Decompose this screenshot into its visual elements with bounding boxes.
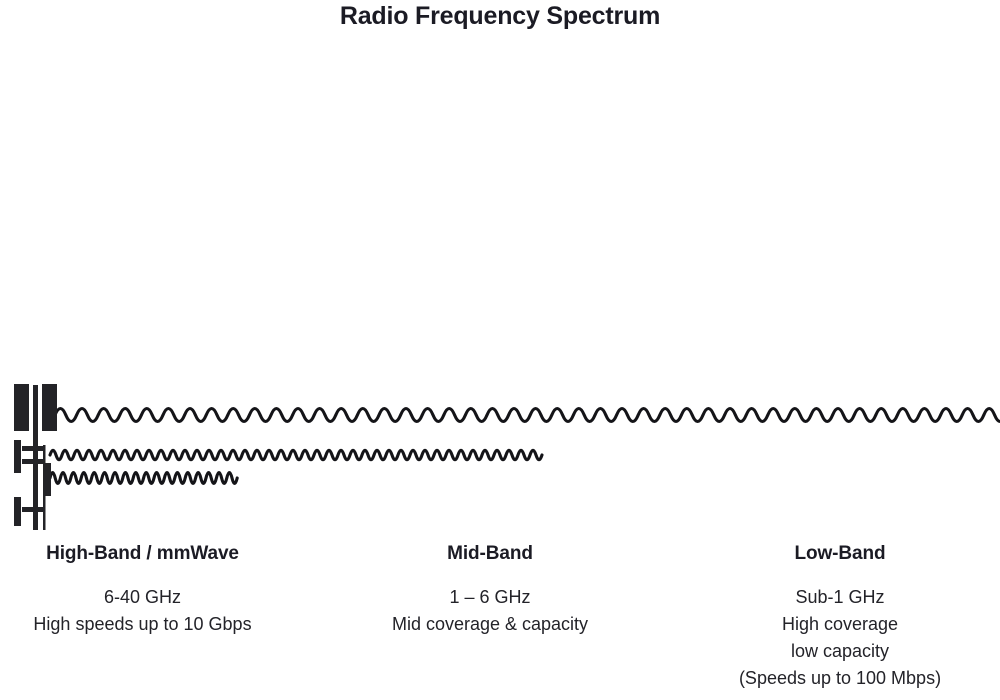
- spectrum-illustration: [0, 120, 1000, 530]
- tower-crossbar-middle: [22, 459, 45, 464]
- band-column-high: High-Band / mmWave 6-40 GHz High speeds …: [0, 543, 285, 638]
- spectrum-svg: [0, 120, 1000, 530]
- band-title-low: Low-Band: [690, 543, 990, 565]
- band-frequency-low: Sub-1 GHz: [690, 584, 990, 611]
- band-column-low: Low-Band Sub-1 GHz High coverage low cap…: [690, 543, 990, 692]
- tower-antenna-panel-right-mid: [44, 463, 51, 496]
- band-title-mid: Mid-Band: [345, 543, 635, 565]
- infographic-root: Radio Frequency Spectrum: [0, 0, 1000, 700]
- band-detail-low-2: (Speeds up to 100 Mbps): [690, 665, 990, 692]
- tower-antenna-panel-right-top: [42, 384, 57, 431]
- radio-waves: [50, 409, 1000, 484]
- band-detail-low-0: High coverage: [690, 611, 990, 638]
- band-frequency-mid: 1 – 6 GHz: [345, 584, 635, 611]
- tower-antenna-panel-lower: [14, 497, 21, 526]
- band-description-low: Sub-1 GHz High coverage low capacity (Sp…: [690, 584, 990, 692]
- cell-tower: [14, 384, 57, 530]
- band-column-mid: Mid-Band 1 – 6 GHz Mid coverage & capaci…: [345, 543, 635, 638]
- band-description-mid: 1 – 6 GHz Mid coverage & capacity: [345, 584, 635, 638]
- mid-band-wave: [50, 450, 542, 460]
- tower-antenna-panel-left-mid: [14, 440, 21, 473]
- low-band-wave: [55, 409, 1000, 422]
- band-title-high: High-Band / mmWave: [0, 543, 285, 565]
- band-labels: High-Band / mmWave 6-40 GHz High speeds …: [0, 543, 1000, 700]
- band-detail-mid-0: Mid coverage & capacity: [345, 611, 635, 638]
- band-detail-high-0: High speeds up to 10 Gbps: [0, 611, 285, 638]
- band-detail-low-1: low capacity: [690, 638, 990, 665]
- tower-antenna-panel-left-top: [14, 384, 29, 431]
- page-title: Radio Frequency Spectrum: [0, 2, 1000, 31]
- band-description-high: 6-40 GHz High speeds up to 10 Gbps: [0, 584, 285, 638]
- high-band-wave: [50, 473, 237, 484]
- tower-crossbar-lower: [22, 507, 45, 512]
- band-frequency-high: 6-40 GHz: [0, 584, 285, 611]
- tower-crossbar-upper: [22, 446, 45, 451]
